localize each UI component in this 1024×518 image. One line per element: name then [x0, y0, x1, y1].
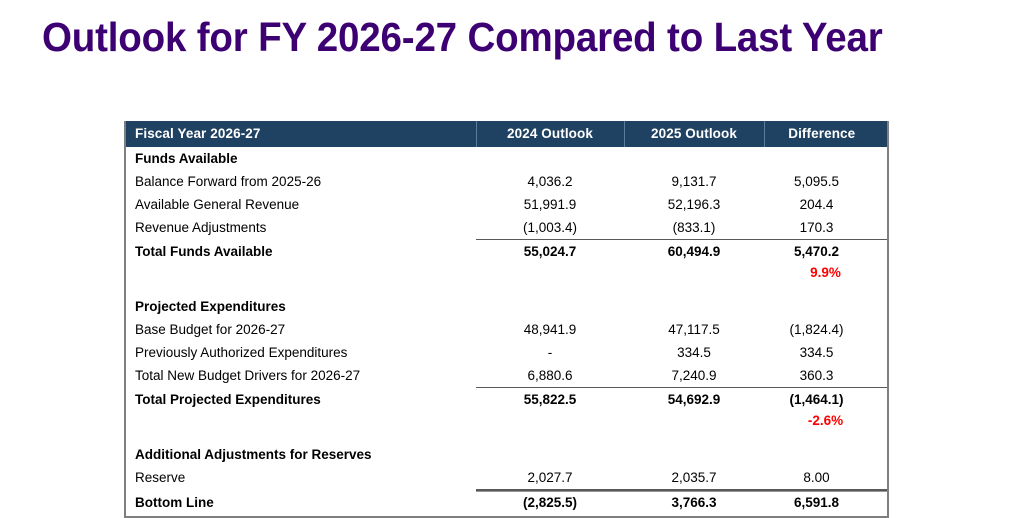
- table-row-total-projected-expenditures-percent: -2.6%: [126, 411, 887, 430]
- row-label-available-general-revenue: Available General Revenue: [126, 193, 476, 216]
- section-header-funds-available: Funds Available: [126, 147, 887, 170]
- row-label-revenue-adjustments: Revenue Adjustments: [126, 216, 476, 240]
- cell-available-general-revenue-2024: 51,991.9: [476, 193, 624, 216]
- table-row-bottom-line: Bottom Line (2,825.5) 3,766.3 6,591.8: [126, 490, 887, 516]
- cell-revenue-adjustments-2025: (833.1): [624, 216, 764, 240]
- table-row-new-budget-drivers: Total New Budget Drivers for 2026-27 6,8…: [126, 364, 887, 388]
- cell-revenue-adjustments-2024: (1,003.4): [476, 216, 624, 240]
- cell-balance-forward-difference: 5,095.5: [764, 170, 887, 193]
- table-body: Funds Available Balance Forward from 202…: [126, 147, 887, 516]
- spacer-cell-diff-2: [764, 430, 887, 443]
- cell-balance-forward-2025: 9,131.7: [624, 170, 764, 193]
- budget-table-container: Fiscal Year 2026-27 2024 Outlook 2025 Ou…: [124, 121, 889, 518]
- row-label-reserve: Reserve: [126, 466, 476, 490]
- column-header-difference: Difference: [764, 121, 887, 147]
- section-label-funds-available: Funds Available: [126, 147, 476, 170]
- table-spacer-row-2: [126, 430, 887, 443]
- cell-previously-authorized-2025: 334.5: [624, 341, 764, 364]
- table-row-total-projected-expenditures: Total Projected Expenditures 55,822.5 54…: [126, 388, 887, 412]
- cell-base-budget-difference: (1,824.4): [764, 318, 887, 341]
- section-blank-2024-c: [476, 443, 624, 466]
- table-row-total-funds-available: Total Funds Available 55,024.7 60,494.9 …: [126, 240, 887, 264]
- cell-revenue-adjustments-difference: 170.3: [764, 216, 887, 240]
- percent-row-blank-label-2: [126, 411, 476, 430]
- spacer-cell-2025-2: [624, 430, 764, 443]
- cell-total-funds-available-percent-change: 9.9%: [764, 263, 887, 282]
- percent-row-blank-label: [126, 263, 476, 282]
- row-label-bottom-line: Bottom Line: [126, 490, 476, 516]
- percent-row-blank-2024: [476, 263, 624, 282]
- section-blank-2024-b: [476, 295, 624, 318]
- column-header-2024-outlook: 2024 Outlook: [476, 121, 624, 147]
- table-row-revenue-adjustments: Revenue Adjustments (1,003.4) (833.1) 17…: [126, 216, 887, 240]
- page-title: Outlook for FY 2026-27 Compared to Last …: [42, 14, 935, 61]
- cell-total-funds-available-difference: 5,470.2: [764, 240, 887, 264]
- slide: Outlook for FY 2026-27 Compared to Last …: [0, 0, 1024, 477]
- section-blank-2025-c: [624, 443, 764, 466]
- table-row-total-funds-available-percent: 9.9%: [126, 263, 887, 282]
- cell-available-general-revenue-2025: 52,196.3: [624, 193, 764, 216]
- spacer-cell-2024-1: [476, 282, 624, 295]
- cell-reserve-2024: 2,027.7: [476, 466, 624, 490]
- budget-table: Fiscal Year 2026-27 2024 Outlook 2025 Ou…: [126, 121, 887, 516]
- section-label-projected-expenditures: Projected Expenditures: [126, 295, 476, 318]
- section-blank-2025-b: [624, 295, 764, 318]
- cell-bottom-line-difference: 6,591.8: [764, 490, 887, 516]
- cell-new-budget-drivers-difference: 360.3: [764, 364, 887, 388]
- cell-balance-forward-2024: 4,036.2: [476, 170, 624, 193]
- column-header-2025-outlook: 2025 Outlook: [624, 121, 764, 147]
- table-row-previously-authorized: Previously Authorized Expenditures - 334…: [126, 341, 887, 364]
- section-blank-diff-c: [764, 443, 887, 466]
- table-header-row: Fiscal Year 2026-27 2024 Outlook 2025 Ou…: [126, 121, 887, 147]
- spacer-cell-label-2: [126, 430, 476, 443]
- cell-bottom-line-2024: (2,825.5): [476, 490, 624, 516]
- section-label-additional-adjustments: Additional Adjustments for Reserves: [126, 443, 476, 466]
- row-label-total-funds-available: Total Funds Available: [126, 240, 476, 264]
- cell-available-general-revenue-difference: 204.4: [764, 193, 887, 216]
- section-blank-diff: [764, 147, 887, 170]
- section-blank-2024: [476, 147, 624, 170]
- row-label-total-projected-expenditures: Total Projected Expenditures: [126, 388, 476, 412]
- row-label-previously-authorized: Previously Authorized Expenditures: [126, 341, 476, 364]
- cell-total-funds-available-2024: 55,024.7: [476, 240, 624, 264]
- spacer-cell-2025-1: [624, 282, 764, 295]
- section-blank-diff-b: [764, 295, 887, 318]
- percent-row-blank-2024-2: [476, 411, 624, 430]
- section-blank-2025: [624, 147, 764, 170]
- cell-previously-authorized-2024: -: [476, 341, 624, 364]
- section-header-projected-expenditures: Projected Expenditures: [126, 295, 887, 318]
- table-row-available-general-revenue: Available General Revenue 51,991.9 52,19…: [126, 193, 887, 216]
- table-row-base-budget: Base Budget for 2026-27 48,941.9 47,117.…: [126, 318, 887, 341]
- cell-base-budget-2024: 48,941.9: [476, 318, 624, 341]
- table-row-reserve: Reserve 2,027.7 2,035.7 8.00: [126, 466, 887, 490]
- cell-base-budget-2025: 47,117.5: [624, 318, 764, 341]
- row-label-new-budget-drivers: Total New Budget Drivers for 2026-27: [126, 364, 476, 388]
- percent-row-blank-2025-2: [624, 411, 764, 430]
- cell-previously-authorized-difference: 334.5: [764, 341, 887, 364]
- table-row-balance-forward: Balance Forward from 2025-26 4,036.2 9,1…: [126, 170, 887, 193]
- cell-reserve-difference: 8.00: [764, 466, 887, 490]
- row-label-balance-forward: Balance Forward from 2025-26: [126, 170, 476, 193]
- column-header-fiscal-year: Fiscal Year 2026-27: [126, 121, 476, 147]
- section-header-additional-adjustments: Additional Adjustments for Reserves: [126, 443, 887, 466]
- cell-total-projected-expenditures-2024: 55,822.5: [476, 388, 624, 412]
- cell-new-budget-drivers-2025: 7,240.9: [624, 364, 764, 388]
- table-spacer-row-1: [126, 282, 887, 295]
- table-header: Fiscal Year 2026-27 2024 Outlook 2025 Ou…: [126, 121, 887, 147]
- cell-total-projected-expenditures-2025: 54,692.9: [624, 388, 764, 412]
- spacer-cell-label-1: [126, 282, 476, 295]
- cell-total-funds-available-2025: 60,494.9: [624, 240, 764, 264]
- cell-new-budget-drivers-2024: 6,880.6: [476, 364, 624, 388]
- spacer-cell-diff-1: [764, 282, 887, 295]
- cell-total-projected-expenditures-percent-change: -2.6%: [764, 411, 887, 430]
- percent-row-blank-2025: [624, 263, 764, 282]
- row-label-base-budget: Base Budget for 2026-27: [126, 318, 476, 341]
- cell-bottom-line-2025: 3,766.3: [624, 490, 764, 516]
- cell-reserve-2025: 2,035.7: [624, 466, 764, 490]
- spacer-cell-2024-2: [476, 430, 624, 443]
- cell-total-projected-expenditures-difference: (1,464.1): [764, 388, 887, 412]
